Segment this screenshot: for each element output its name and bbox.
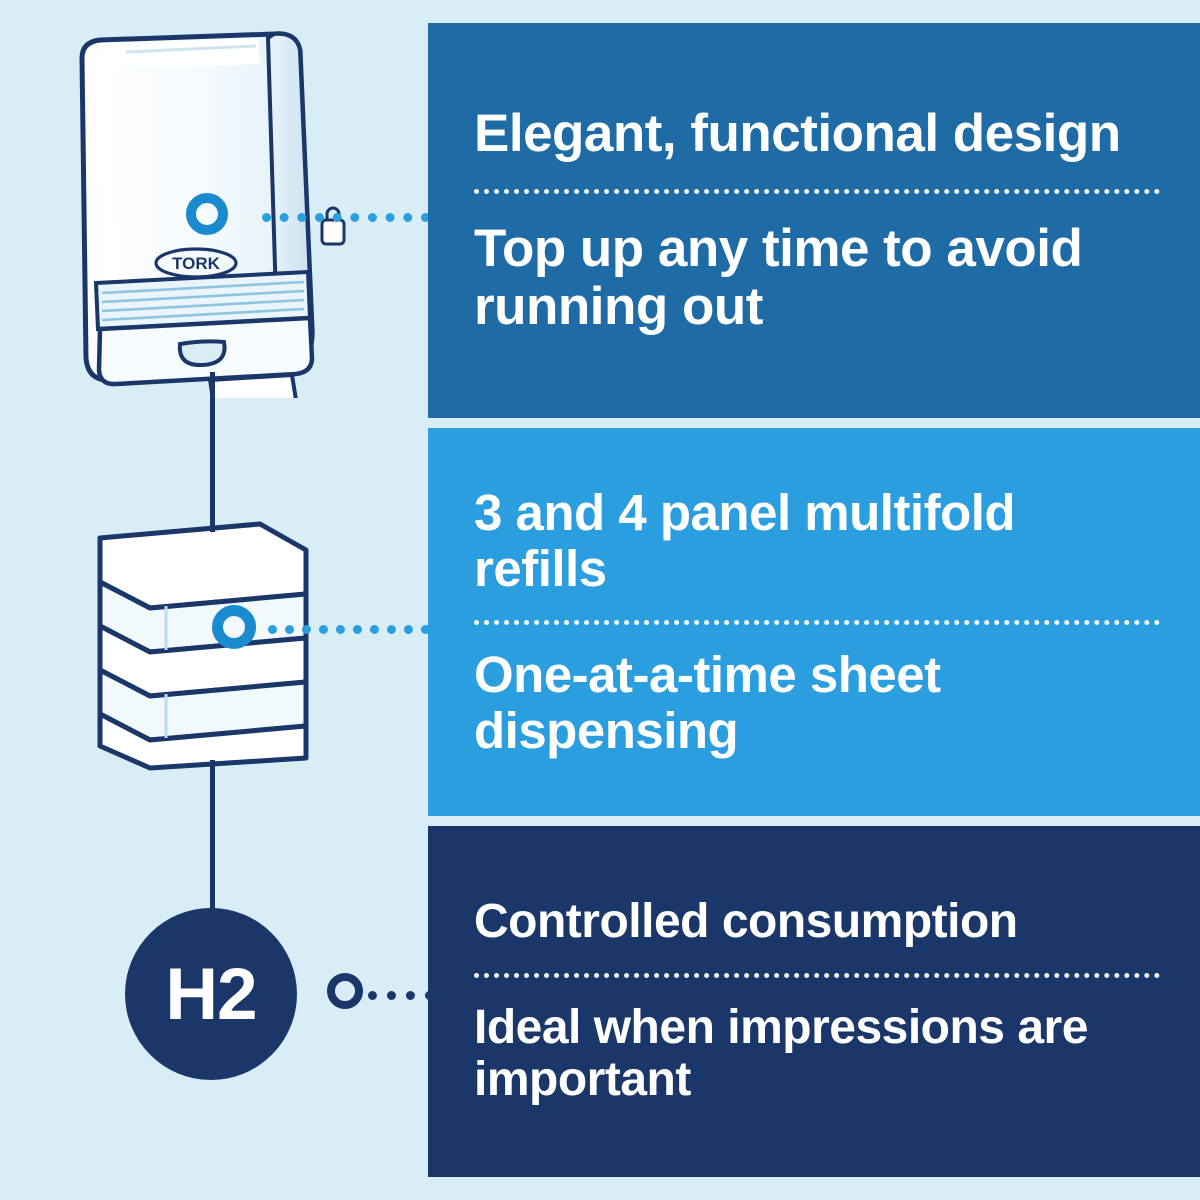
marker-ring-refill (212, 605, 256, 649)
feature-panel-design: Elegant, functional design Top up any ti… (428, 23, 1200, 418)
feature-panel-consumption: Controlled consumption Ideal when impres… (428, 826, 1200, 1177)
panel-1-line-a: Elegant, functional design (474, 105, 1160, 163)
infographic-canvas: TORK (0, 0, 1200, 1200)
panel-3-divider (474, 973, 1160, 978)
panel-2-line-b: One-at-a-time sheet dispensing (474, 647, 1160, 759)
leader-dots-panel-1 (262, 213, 430, 222)
panel-2-line-a: 3 and 4 panel multifold refills (474, 485, 1160, 597)
h2-category-badge: H2 (125, 908, 297, 1080)
panel-3-line-a: Controlled consumption (474, 896, 1160, 949)
feature-panel-refills: 3 and 4 panel multifold refills One-at-a… (428, 428, 1200, 816)
panel-3-line-b: Ideal when impressions are important (474, 1002, 1160, 1108)
panel-1-line-b: Top up any time to avoid running out (474, 220, 1160, 337)
connector-line-top (210, 372, 215, 532)
connector-line-bottom (210, 760, 215, 920)
marker-ring-dispenser (186, 193, 228, 235)
panel-2-divider (474, 620, 1160, 625)
marker-ring-h2 (327, 973, 363, 1009)
panel-1-divider (474, 189, 1160, 194)
multifold-refill-illustration (70, 510, 350, 775)
leader-dots-panel-2 (268, 625, 430, 634)
h2-badge-label: H2 (165, 953, 256, 1036)
svg-text:TORK: TORK (172, 254, 221, 273)
